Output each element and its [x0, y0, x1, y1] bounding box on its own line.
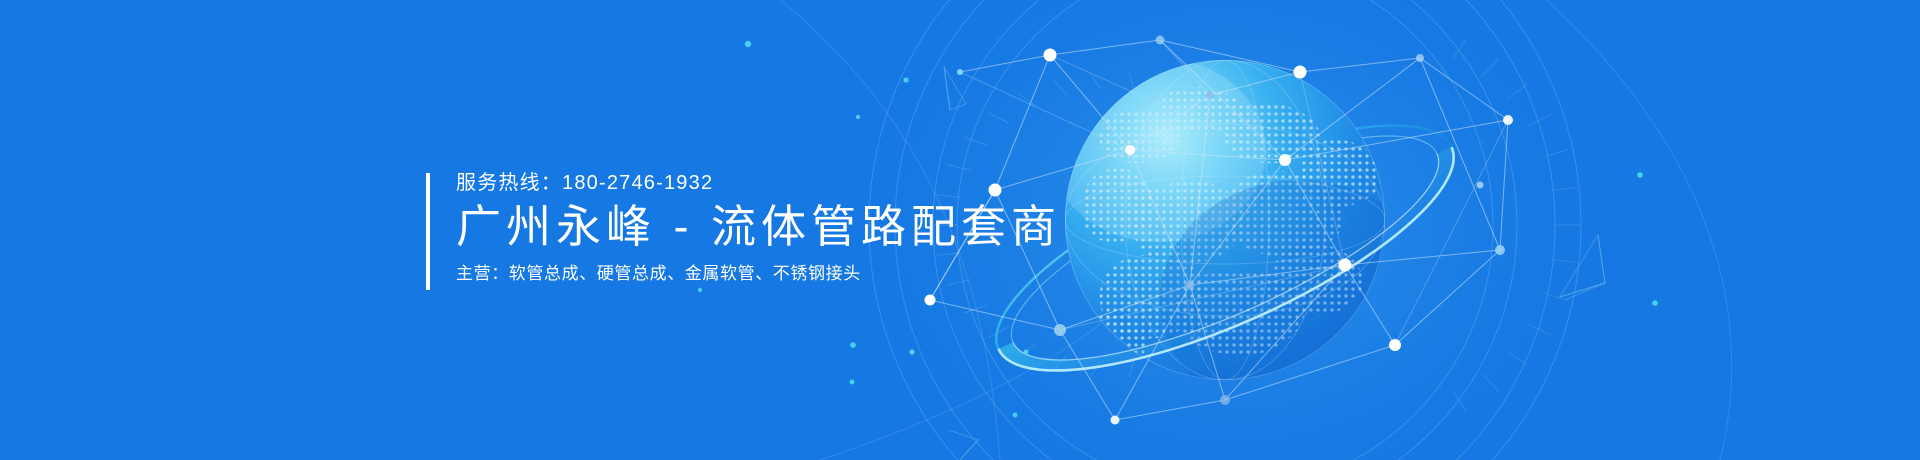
page-title: 广州永峰 - 流体管路配套商	[456, 200, 1061, 254]
product-subtitle: 主营：软管总成、硬管总成、金属软管、不锈钢接头	[456, 262, 1061, 286]
banner-text-block: 服务热线：180-2746-1932 广州永峰 - 流体管路配套商 主营：软管总…	[426, 170, 1061, 290]
hero-banner: 服务热线：180-2746-1932 广州永峰 - 流体管路配套商 主营：软管总…	[0, 0, 1920, 460]
banner-text-column: 服务热线：180-2746-1932 广州永峰 - 流体管路配套商 主营：软管总…	[430, 170, 1061, 290]
service-hotline: 服务热线：180-2746-1932	[456, 170, 1061, 196]
